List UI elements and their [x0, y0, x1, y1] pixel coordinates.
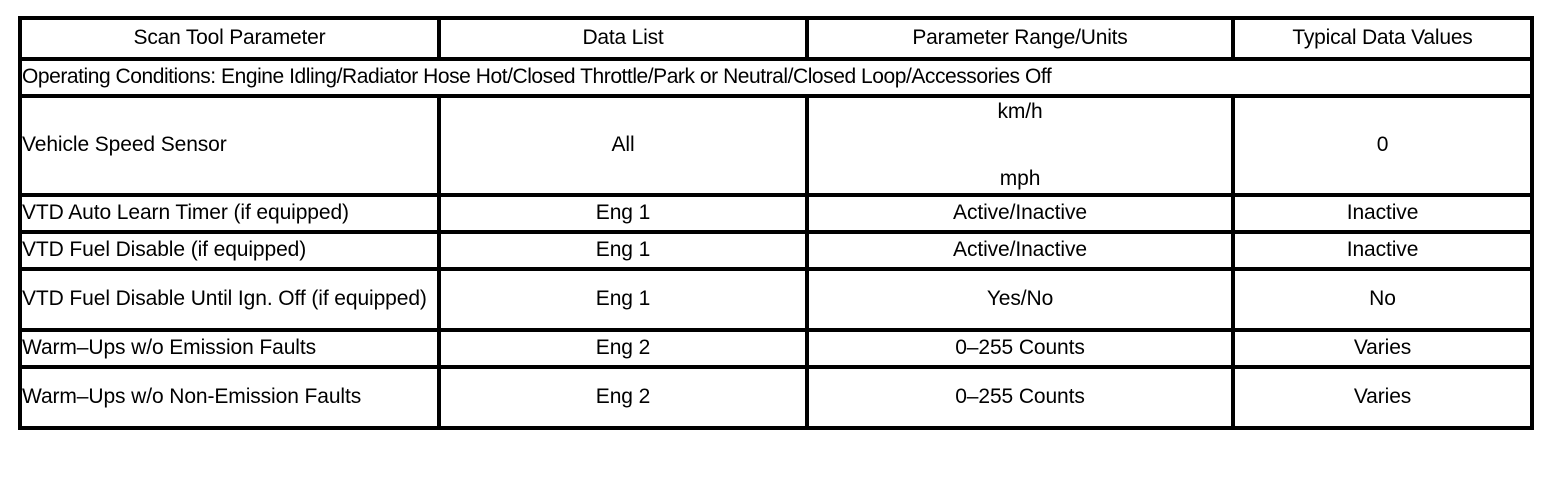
cell-data-list: Eng 1	[439, 269, 807, 330]
cell-typical-value: 0	[1233, 96, 1532, 195]
cell-typical-value: Varies	[1233, 367, 1532, 428]
table-body: Operating Conditions: Engine Idling/Radi…	[20, 59, 1532, 428]
operating-conditions-banner: Operating Conditions: Engine Idling/Radi…	[20, 59, 1532, 96]
cell-typical-value: Inactive	[1233, 232, 1532, 269]
column-header-typical-data-values: Typical Data Values	[1233, 18, 1532, 59]
cell-data-list: Eng 1	[439, 232, 807, 269]
units-imperial: mph	[809, 167, 1231, 192]
cell-parameter: VTD Fuel Disable Until Ign. Off (if equi…	[20, 269, 439, 330]
cell-range-units: Yes/No	[807, 269, 1233, 330]
table-row: VTD Auto Learn Timer (if equipped) Eng 1…	[20, 195, 1532, 232]
column-header-scan-tool-parameter: Scan Tool Parameter	[20, 18, 439, 59]
cell-typical-value: Varies	[1233, 330, 1532, 367]
cell-data-list: All	[439, 96, 807, 195]
cell-parameter: Warm–Ups w/o Non-Emission Faults	[20, 367, 439, 428]
units-metric: km/h	[809, 100, 1231, 167]
cell-data-list: Eng 2	[439, 330, 807, 367]
cell-range-units: 0–255 Counts	[807, 330, 1233, 367]
table-row: VTD Fuel Disable (if equipped) Eng 1 Act…	[20, 232, 1532, 269]
scan-tool-parameter-table: Scan Tool Parameter Data List Parameter …	[18, 16, 1534, 430]
table-row: VTD Fuel Disable Until Ign. Off (if equi…	[20, 269, 1532, 330]
cell-parameter: Vehicle Speed Sensor	[20, 96, 439, 195]
table-row: Warm–Ups w/o Non-Emission Faults Eng 2 0…	[20, 367, 1532, 428]
cell-parameter: VTD Fuel Disable (if equipped)	[20, 232, 439, 269]
cell-typical-value: No	[1233, 269, 1532, 330]
cell-range-units: 0–255 Counts	[807, 367, 1233, 428]
cell-data-list: Eng 2	[439, 367, 807, 428]
document-page: Scan Tool Parameter Data List Parameter …	[0, 0, 1568, 492]
cell-range-units: km/h mph	[807, 96, 1233, 195]
table-header-row: Scan Tool Parameter Data List Parameter …	[20, 18, 1532, 59]
column-header-parameter-range-units: Parameter Range/Units	[807, 18, 1233, 59]
table-row: Vehicle Speed Sensor All km/h mph 0	[20, 96, 1532, 195]
column-header-data-list: Data List	[439, 18, 807, 59]
cell-data-list: Eng 1	[439, 195, 807, 232]
operating-conditions-row: Operating Conditions: Engine Idling/Radi…	[20, 59, 1532, 96]
cell-typical-value: Inactive	[1233, 195, 1532, 232]
cell-parameter: Warm–Ups w/o Emission Faults	[20, 330, 439, 367]
table-header: Scan Tool Parameter Data List Parameter …	[20, 18, 1532, 59]
cell-parameter: VTD Auto Learn Timer (if equipped)	[20, 195, 439, 232]
cell-range-units: Active/Inactive	[807, 232, 1233, 269]
cell-range-units: Active/Inactive	[807, 195, 1233, 232]
units-stack: km/h mph	[809, 100, 1231, 192]
table-row: Warm–Ups w/o Emission Faults Eng 2 0–255…	[20, 330, 1532, 367]
